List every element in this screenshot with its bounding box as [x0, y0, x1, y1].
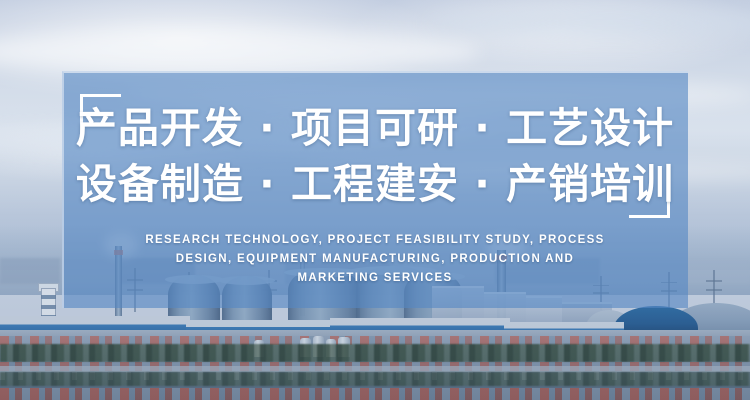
subtitle-line-2: DESIGN, EQUIPMENT MANUFACTURING, PRODUCT… [132, 250, 618, 269]
subtitle: RESEARCH TECHNOLOGY, PROJECT FEASIBILITY… [132, 231, 618, 288]
promo-banner: 产品开发 · 项目可研 · 工艺设计 设备制造 · 工程建安 · 产销培训 RE… [0, 0, 750, 400]
subtitle-line-1: RESEARCH TECHNOLOGY, PROJECT FEASIBILITY… [132, 231, 618, 250]
subtitle-line-3: MARKETING SERVICES [132, 269, 618, 288]
tree-row [0, 372, 750, 386]
headline-line-1: 产品开发 · 项目可研 · 工艺设计 [62, 100, 688, 156]
tree-row [0, 344, 750, 362]
banner-text-block: 产品开发 · 项目可研 · 工艺设计 设备制造 · 工程建安 · 产销培训 RE… [62, 71, 688, 308]
rooftop-row [0, 388, 750, 400]
headline-line-2: 设备制造 · 工程建安 · 产销培训 [62, 156, 688, 212]
headline: 产品开发 · 项目可研 · 工艺设计 设备制造 · 工程建安 · 产销培训 [62, 100, 688, 212]
